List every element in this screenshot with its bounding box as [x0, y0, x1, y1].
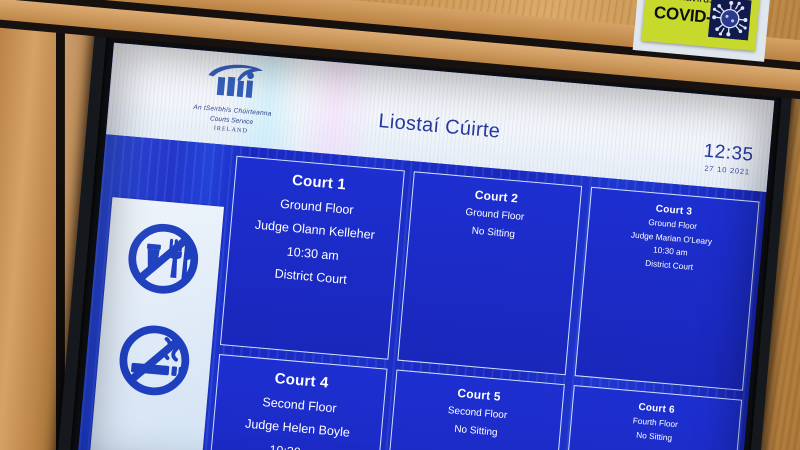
court-list-screen: An tSeirbhís Chúirteanna Courts Service …	[76, 43, 774, 450]
court-cell[interactable]: Court 1 Ground Floor Judge Olann Kellehe…	[220, 156, 405, 360]
court-cell[interactable]: Court 2 Ground Floor No Sitting	[397, 171, 582, 375]
court-list-grid: Court 1 Ground Floor Judge Olann Kellehe…	[203, 156, 760, 450]
court-judge: Judge Olann Kelleher	[237, 217, 393, 245]
court-floor: Second Floor	[222, 391, 378, 419]
screenshot-stage: Coronavirus COVID-19	[0, 0, 800, 450]
court-cell[interactable]: Court 3 Ground Floor Judge Marian O'Lear…	[575, 187, 760, 391]
clock-time: 12:35	[703, 141, 755, 167]
no-food-drink-icon	[117, 212, 210, 305]
virus-icon	[708, 0, 751, 40]
notice-panel	[88, 197, 224, 450]
court-name: Court 1	[241, 167, 397, 197]
court-judge: Judge Helen Boyle	[220, 415, 376, 443]
court-cell[interactable]: Court 6 Fourth Floor No Sitting	[557, 385, 742, 450]
court-type: District Court	[233, 263, 389, 291]
monitor-bezel: An tSeirbhís Chúirteanna Courts Service …	[68, 33, 782, 450]
court-time: 10:30 am	[235, 240, 391, 268]
no-smoking-icon	[108, 314, 201, 407]
wood-trim-outer	[0, 0, 56, 450]
court-name: Court 4	[224, 366, 380, 396]
court-cell[interactable]: Court 4 Second Floor Judge Helen Boyle 1…	[203, 354, 388, 450]
clock: 12:35 27 10 2021	[702, 141, 755, 177]
court-cell[interactable]: Court 5 Second Floor No Sitting	[380, 370, 565, 450]
court-floor: Ground Floor	[239, 193, 395, 221]
